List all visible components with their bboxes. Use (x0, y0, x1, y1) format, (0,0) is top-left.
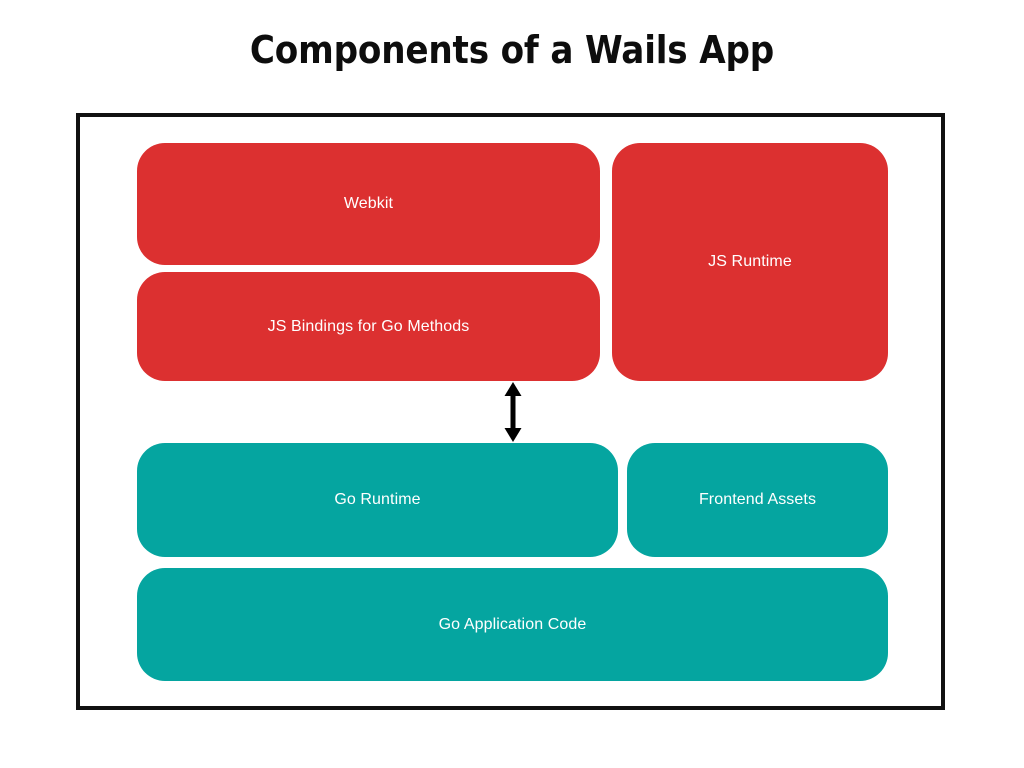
component-box-js-runtime[interactable]: JS Runtime (612, 143, 888, 381)
component-label-js-runtime: JS Runtime (708, 253, 792, 271)
component-label-go-application-code: Go Application Code (439, 616, 587, 634)
component-label-webkit: Webkit (344, 195, 393, 213)
component-label-frontend-assets: Frontend Assets (699, 491, 816, 509)
component-label-js-bindings: JS Bindings for Go Methods (268, 318, 470, 336)
component-box-go-application-code[interactable]: Go Application Code (137, 568, 888, 681)
component-box-go-runtime[interactable]: Go Runtime (137, 443, 618, 557)
component-box-webkit[interactable]: Webkit (137, 143, 600, 265)
component-box-js-bindings[interactable]: JS Bindings for Go Methods (137, 272, 600, 381)
page-title: Components of a Wails App (51, 28, 973, 72)
component-label-go-runtime: Go Runtime (334, 491, 420, 509)
component-box-frontend-assets[interactable]: Frontend Assets (627, 443, 888, 557)
double-headed-arrow-icon (497, 381, 529, 443)
